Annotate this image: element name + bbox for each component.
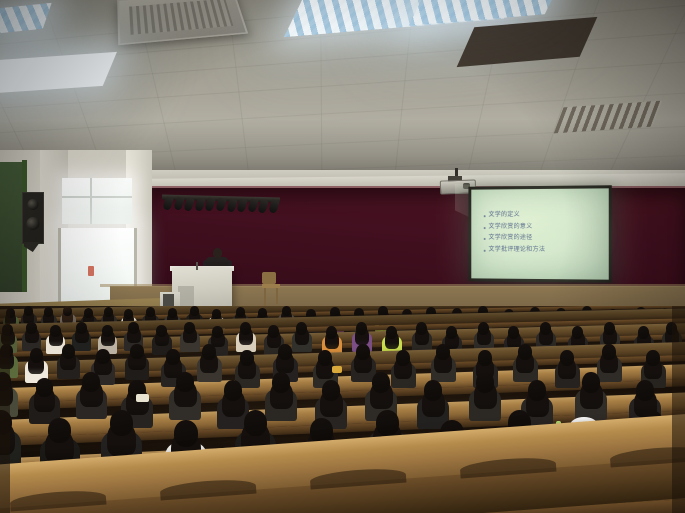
audience-head (110, 410, 133, 436)
window-mullion (90, 178, 92, 224)
audience-head (202, 344, 216, 360)
slide-bullet-text: 文学的定义 (489, 211, 520, 218)
chair-leg (264, 288, 266, 306)
audience-head (278, 344, 292, 360)
audience-head (436, 344, 450, 360)
audience-head (156, 325, 167, 337)
audience-head (84, 308, 93, 318)
audience-head (240, 322, 251, 335)
audience-head (356, 322, 367, 335)
audience-head (478, 322, 489, 335)
door-sign (88, 266, 94, 276)
lecture-hall-photo: 文学的定义 文学欣赏的意义 文学欣赏的途径 文学批评理论和方法 (0, 0, 685, 513)
audience-head (104, 307, 113, 317)
audience-head (572, 326, 583, 339)
desk-item (332, 366, 342, 373)
bullet-dot-icon (484, 249, 486, 251)
ac-grille (129, 0, 233, 35)
audience-head (478, 350, 492, 366)
audience-head (258, 308, 267, 318)
audience-head (96, 349, 110, 364)
audience-head (416, 322, 427, 335)
audience-head (386, 326, 397, 339)
audience-head (224, 380, 242, 401)
audience-head (176, 372, 194, 392)
window (62, 178, 132, 224)
audience-head (48, 418, 71, 443)
podium-microphone (196, 262, 198, 270)
audience-head (128, 322, 139, 334)
audience-head (212, 326, 223, 338)
audience-head (560, 350, 574, 366)
lecturer-head (213, 248, 222, 258)
audience-head (282, 306, 291, 316)
audience-head (646, 350, 660, 366)
audience-head (476, 372, 494, 393)
audience-head (124, 309, 133, 319)
slide-bullet: 文学欣赏的意义 (484, 222, 601, 229)
window-mullion (62, 196, 132, 198)
audience-seating-area (0, 306, 685, 513)
chair-back (262, 272, 276, 284)
audience-head (518, 344, 532, 360)
audience-head (604, 322, 615, 335)
slide-bullet-text: 文学欣赏的途径 (489, 234, 533, 241)
aisle-shadow (672, 306, 685, 513)
audience-head (326, 326, 337, 339)
slide-bullet: 文学的定义 (484, 211, 601, 218)
audience-head (272, 372, 290, 393)
audience-head (638, 326, 649, 339)
audience-head (184, 322, 195, 334)
audience-head (130, 344, 144, 359)
audience-head (446, 326, 457, 339)
audience-head (636, 380, 654, 401)
audience-head (166, 349, 180, 365)
bullet-dot-icon (484, 238, 486, 240)
projection-screen-frame: 文学的定义 文学欣赏的意义 文学欣赏的途径 文学批评理论和方法 (468, 185, 611, 283)
audience-head (540, 322, 551, 335)
speaker-cone (27, 217, 40, 230)
slide-bullet: 文学批评理论和方法 (484, 245, 601, 252)
audience-head (508, 326, 519, 339)
audience-head (236, 307, 245, 317)
audience-head (528, 380, 546, 401)
audience-head (24, 306, 33, 316)
audience-head (244, 410, 267, 436)
audience-head (76, 322, 87, 334)
slide-bullet-text: 文学批评理论和方法 (489, 245, 546, 252)
chair-leg (276, 288, 278, 304)
audience-head (146, 307, 155, 317)
audience-head (322, 380, 340, 401)
podium-panel (178, 286, 194, 308)
bullet-dot-icon (484, 227, 486, 229)
slide-content: 文学的定义 文学欣赏的意义 文学欣赏的途径 文学批评理论和方法 (484, 211, 601, 258)
speaker-cone (28, 199, 39, 210)
audience-head (50, 325, 61, 337)
audience-head (26, 322, 37, 334)
audience-head (376, 410, 399, 436)
audience-head (174, 420, 198, 447)
audience-head (424, 380, 442, 401)
audience-head (30, 348, 43, 363)
audience-head (44, 307, 53, 317)
audience-head (63, 306, 72, 316)
audience-head (212, 309, 221, 319)
audience-head (62, 344, 75, 359)
slide-bullet: 文学欣赏的途径 (484, 234, 601, 241)
wooden-chair (262, 272, 280, 306)
audience-head (82, 372, 100, 392)
audience-head (356, 344, 370, 360)
audience-head (240, 350, 254, 366)
projection-screen: 文学的定义 文学欣赏的意义 文学欣赏的途径 文学批评理论和方法 (471, 188, 608, 279)
audience-head (168, 308, 177, 318)
audience-head (102, 325, 113, 337)
paper-sheet (136, 394, 149, 402)
audience-head (296, 322, 307, 335)
audience-head (318, 350, 332, 366)
audience-head (268, 325, 279, 338)
audience-head (372, 372, 390, 393)
wall-speaker-icon (22, 192, 44, 244)
audience-head (396, 350, 410, 366)
audience-head (36, 378, 53, 397)
audience-head (602, 344, 616, 360)
bullet-dot-icon (484, 215, 486, 217)
slide-bullet-text: 文学欣赏的意义 (489, 223, 533, 230)
audience-head (190, 306, 199, 316)
aisle-shadow (0, 306, 10, 513)
audience-head (582, 372, 600, 393)
